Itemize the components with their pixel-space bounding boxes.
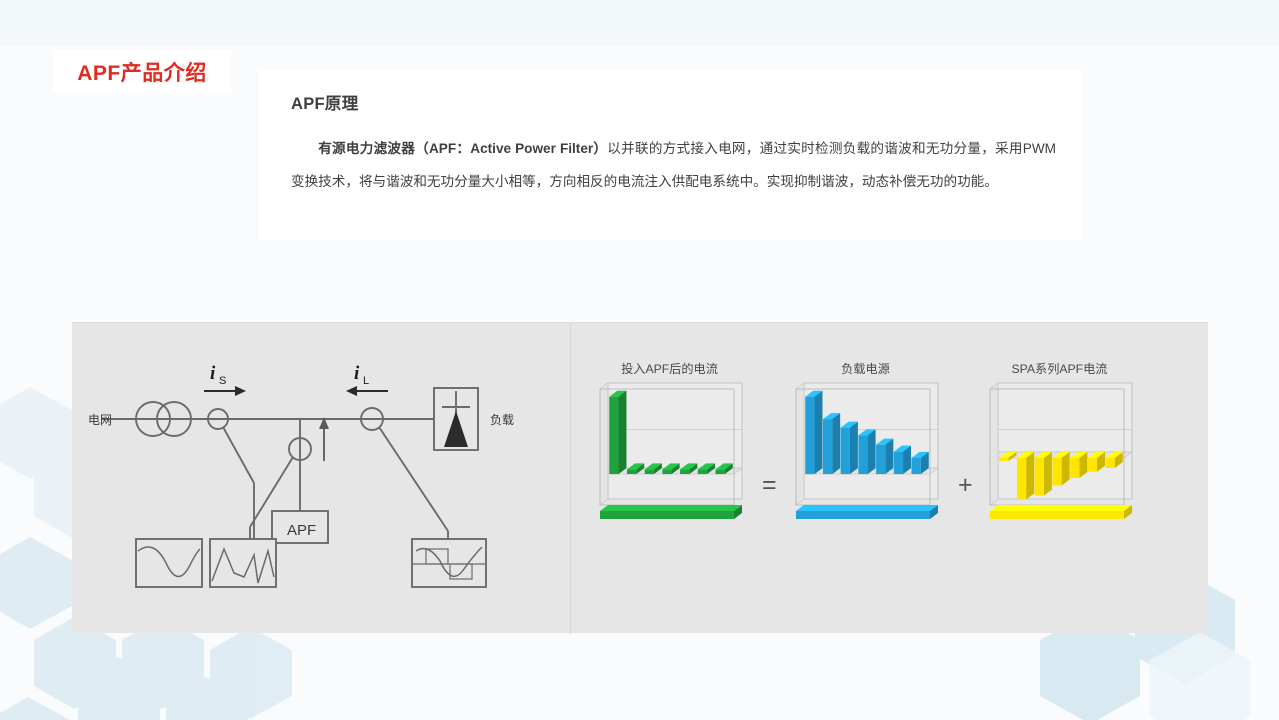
panel-divider bbox=[570, 323, 571, 634]
chart-title-after-apf: 投入APF后的电流 bbox=[592, 359, 747, 377]
circuit-diagram: 电网 负载 APF i S i L bbox=[82, 343, 562, 623]
chart-title-load-source: 负载电源 bbox=[788, 359, 943, 377]
sine-waveform-icon bbox=[136, 539, 202, 587]
chart-canvas-after-apf bbox=[592, 381, 747, 536]
description-paragraph: 有源电力滤波器（APF：Active Power Filter）以并联的方式接入… bbox=[291, 132, 1056, 199]
chart-after-apf: 投入APF后的电流 bbox=[592, 381, 747, 536]
diagram-panel: 电网 负载 APF i S i L 投入APF后的电流 = 负载电源 + SPA… bbox=[72, 322, 1208, 633]
page-title: APF产品介绍 bbox=[77, 57, 207, 87]
current-source-arrow-icon bbox=[204, 386, 246, 396]
grid-label: 电网 bbox=[88, 413, 112, 427]
current-source-subscript: S bbox=[219, 375, 226, 387]
chart-canvas-spa-apf bbox=[982, 381, 1137, 536]
current-load-subscript: L bbox=[363, 375, 369, 387]
load-label: 负载 bbox=[490, 413, 514, 427]
chart-spa-apf: SPA系列APF电流 bbox=[982, 381, 1137, 536]
current-load-label: i bbox=[354, 363, 360, 384]
operator-plus: + bbox=[958, 471, 973, 500]
description-card: APF原理 有源电力滤波器（APF：Active Power Filter）以并… bbox=[259, 70, 1082, 240]
charts-group: 投入APF后的电流 = 负载电源 + SPA系列APF电流 bbox=[592, 323, 1208, 634]
chart-canvas-load-source bbox=[788, 381, 943, 536]
description-heading: APF原理 bbox=[291, 90, 1056, 114]
current-source-label: i bbox=[210, 363, 216, 384]
chart-title-spa-apf: SPA系列APF电流 bbox=[982, 359, 1137, 377]
apf-box-label: APF bbox=[287, 522, 316, 539]
operator-equals: = bbox=[762, 471, 777, 500]
chart-load-source: 负载电源 bbox=[788, 381, 943, 536]
slide-title-tag: APF产品介绍 bbox=[53, 50, 231, 93]
current-load-arrow-icon bbox=[346, 386, 388, 396]
distorted-waveform-icon bbox=[412, 539, 486, 587]
description-lead-term: 有源电力滤波器（APF：Active Power Filter） bbox=[318, 141, 607, 156]
harmonic-waveform-icon bbox=[210, 539, 276, 587]
